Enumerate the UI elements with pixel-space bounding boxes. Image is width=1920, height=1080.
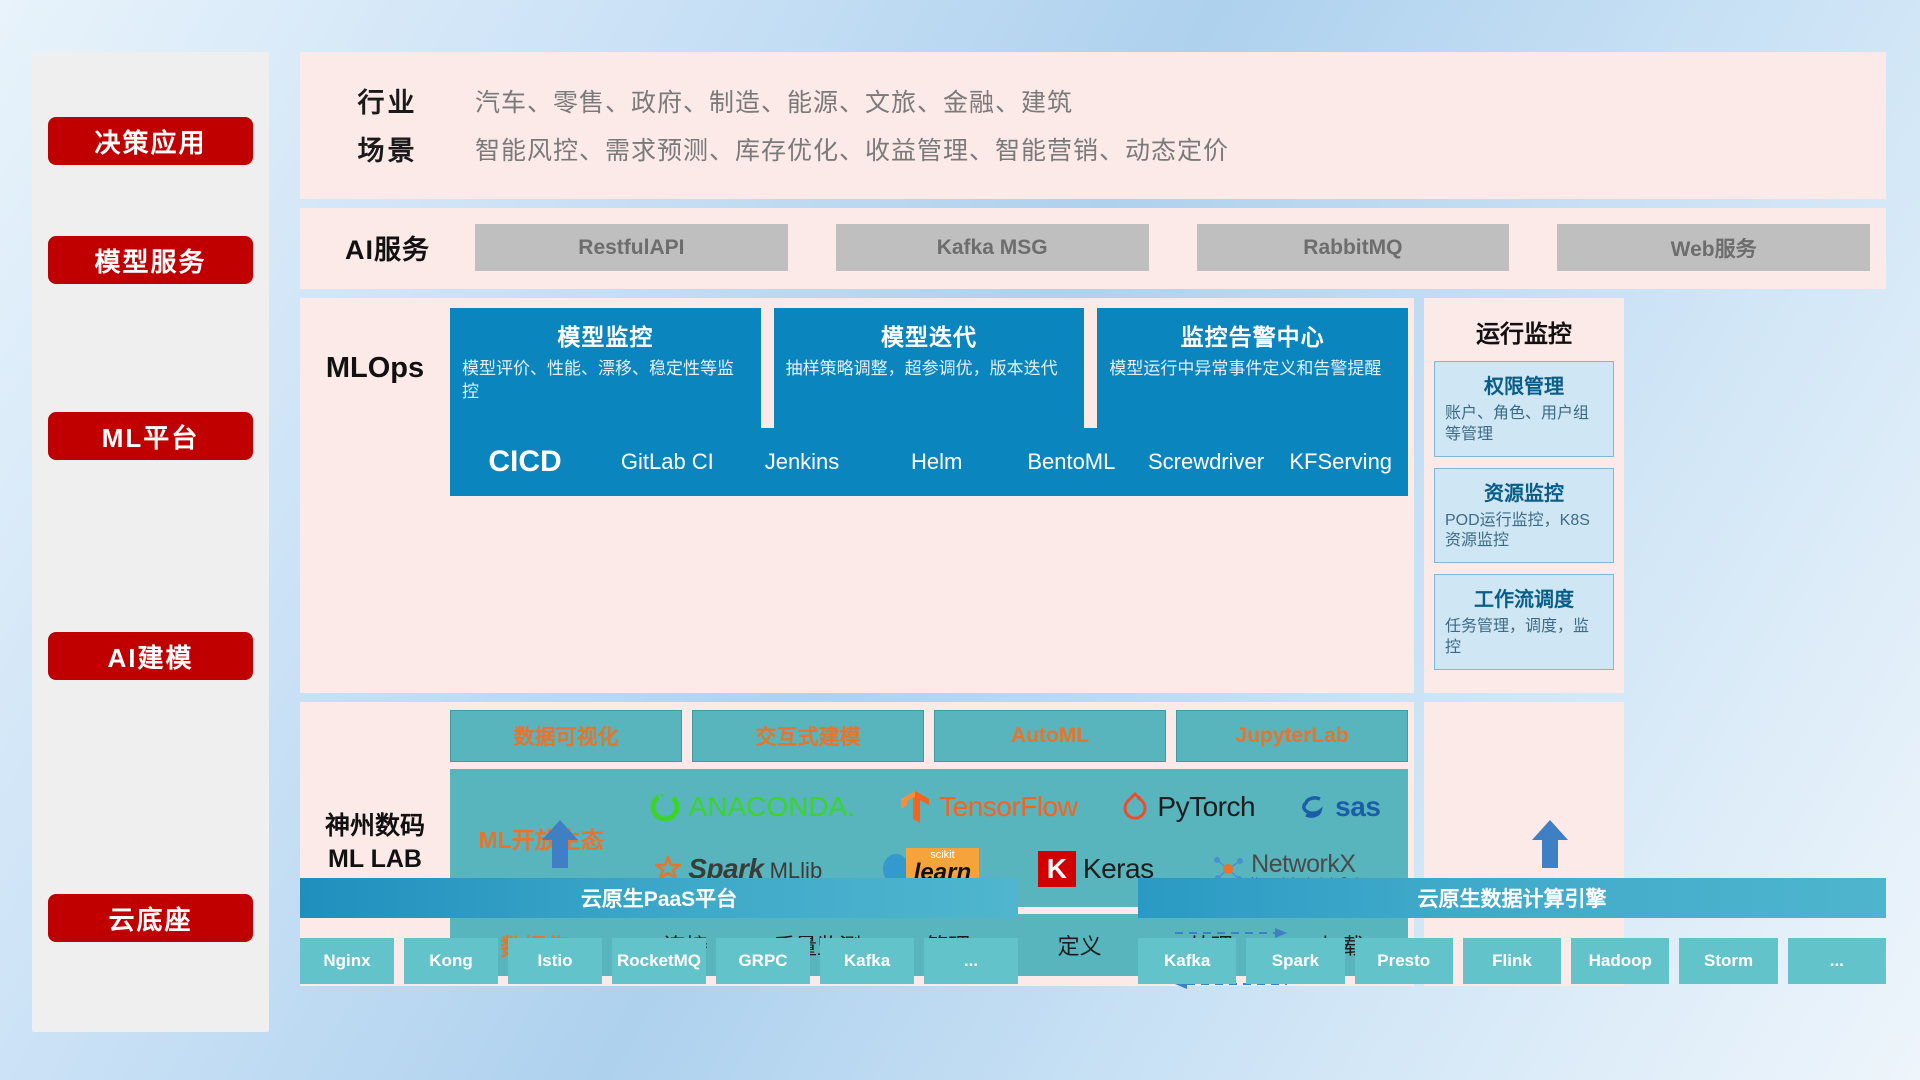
- sas-logo: sas: [1298, 791, 1380, 823]
- cloud-chip-more[interactable]: ...: [924, 938, 1018, 984]
- card-desc: 账户、角色、用户组等管理: [1445, 404, 1603, 446]
- cicd-item-screwdriver[interactable]: Screwdriver: [1139, 449, 1274, 474]
- ai-service-label: AI服务: [300, 228, 475, 267]
- sas-logo-text: sas: [1335, 791, 1380, 823]
- cloud-data-engine-column: 云原生数据计算引擎 Kafka Spark Presto Flink Hadoo…: [1138, 878, 1886, 1033]
- rail-item-label: 决策应用: [94, 123, 206, 160]
- cloud-chip-kafka-right[interactable]: Kafka: [1138, 938, 1236, 984]
- cicd-item-kfserving[interactable]: KFServing: [1273, 449, 1408, 474]
- service-chip-label: Web服务: [1671, 233, 1757, 263]
- rail-item-label: AI建模: [107, 638, 193, 675]
- cloud-chip-kong[interactable]: Kong: [404, 938, 498, 984]
- pytorch-logo: PyTorch: [1120, 790, 1255, 824]
- monitor-rail-title: 运行监控: [1434, 314, 1614, 349]
- modeling-label-line2: ML LAB: [325, 843, 425, 876]
- cloud-paas-chip-list: Nginx Kong Istio RocketMQ GRPC Kafka ...: [300, 938, 1018, 984]
- rail-item-label: ML平台: [102, 418, 200, 455]
- mlops-card-model-monitor[interactable]: 模型监控 模型评价、性能、漂移、稳定性等监控: [450, 308, 761, 428]
- tool-chip-automl[interactable]: AutoML: [934, 710, 1166, 762]
- rail-item-ai-modeling[interactable]: AI建模: [48, 632, 253, 680]
- cloud-chip-nginx[interactable]: Nginx: [300, 938, 394, 984]
- cloud-data-engine-chip-list: Kafka Spark Presto Flink Hadoop Storm ..…: [1138, 938, 1886, 984]
- cicd-item-jenkins[interactable]: Jenkins: [735, 449, 870, 474]
- card-desc: 抽样策略调整，超参调优，版本迭代: [786, 358, 1073, 381]
- cloud-chip-storm[interactable]: Storm: [1679, 938, 1777, 984]
- anaconda-mark-icon: [648, 790, 682, 824]
- cloud-chip-more-right[interactable]: ...: [1788, 938, 1886, 984]
- cloud-chip-hadoop[interactable]: Hadoop: [1571, 938, 1669, 984]
- card-title: 权限管理: [1445, 370, 1603, 399]
- modeling-tool-list: 数据可视化 交互式建模 AutoML JupyterLab: [450, 710, 1408, 762]
- tool-chip-data-visualization[interactable]: 数据可视化: [450, 710, 682, 762]
- tensorflow-mark-icon: [898, 789, 932, 825]
- rail-item-label: 模型服务: [94, 242, 206, 279]
- rail-item-label: 云底座: [108, 900, 192, 937]
- cicd-item-gitlab-ci[interactable]: GitLab CI: [600, 449, 735, 474]
- cicd-bar: CICD GitLab CI Jenkins Helm BentoML Scre…: [450, 428, 1408, 496]
- arrow-up-data-engine-icon: [1530, 820, 1570, 868]
- layer-rail: 决策应用 模型服务 ML平台 AI建模 云底座: [32, 52, 269, 1032]
- cloud-paas-column: 云原生PaaS平台 Nginx Kong Istio RocketMQ GRPC…: [300, 878, 1018, 1033]
- rail-item-decision-app[interactable]: 决策应用: [48, 117, 253, 165]
- anaconda-logo-text: ANACONDA.: [689, 791, 855, 823]
- cloud-chip-spark[interactable]: Spark: [1246, 938, 1344, 984]
- modeling-label-line1: 神州数码: [325, 810, 425, 843]
- industry-row: 行业 汽车、零售、政府、制造、能源、文旅、金融、建筑: [300, 81, 1886, 120]
- rail-item-cloud-base[interactable]: 云底座: [48, 894, 253, 942]
- scenario-label: 场景: [300, 129, 475, 168]
- cicd-item-helm[interactable]: Helm: [869, 449, 1004, 474]
- service-chip-web[interactable]: Web服务: [1557, 224, 1870, 271]
- cicd-title: CICD: [450, 445, 600, 479]
- sas-mark-icon: [1298, 792, 1328, 822]
- ai-service-band: AI服务 RestfulAPI Kafka MSG RabbitMQ Web服务: [300, 208, 1886, 289]
- card-desc: 任务管理，调度，监控: [1445, 617, 1603, 659]
- mlops-cards-row: MLOps 模型监控 模型评价、性能、漂移、稳定性等监控 模型迭代 抽样策略调整…: [300, 308, 1414, 428]
- industry-label: 行业: [300, 81, 475, 120]
- card-title: 资源监控: [1445, 477, 1603, 506]
- logo-line-1: ANACONDA. TensorFlow: [626, 777, 1402, 837]
- cloud-paas-title: 云原生PaaS平台: [300, 878, 1018, 918]
- cloud-chip-flink[interactable]: Flink: [1463, 938, 1561, 984]
- card-desc: 模型运行中异常事件定义和告警提醒: [1109, 358, 1396, 381]
- mlops-card-alert-center[interactable]: 监控告警中心 模型运行中异常事件定义和告警提醒: [1097, 308, 1408, 428]
- cloud-chip-istio[interactable]: Istio: [508, 938, 602, 984]
- pytorch-mark-icon: [1120, 790, 1150, 824]
- industry-value: 汽车、零售、政府、制造、能源、文旅、金融、建筑: [475, 83, 1073, 119]
- anaconda-logo: ANACONDA.: [648, 790, 855, 824]
- scenario-row: 场景 智能风控、需求预测、库存优化、收益管理、智能营销、动态定价: [300, 129, 1886, 168]
- scenario-value: 智能风控、需求预测、库存优化、收益管理、智能营销、动态定价: [475, 131, 1229, 167]
- cloud-chip-grpc[interactable]: GRPC: [716, 938, 810, 984]
- service-chip-kafka-msg[interactable]: Kafka MSG: [836, 224, 1149, 271]
- service-chip-label: RabbitMQ: [1303, 236, 1402, 260]
- pytorch-logo-text: PyTorch: [1157, 791, 1255, 823]
- tensorflow-logo-text: TensorFlow: [939, 791, 1077, 823]
- mlops-band: MLOps 模型监控 模型评价、性能、漂移、稳定性等监控 模型迭代 抽样策略调整…: [300, 298, 1886, 693]
- mlops-card-list: 模型监控 模型评价、性能、漂移、稳定性等监控 模型迭代 抽样策略调整，超参调优，…: [450, 308, 1414, 428]
- cicd-item-bentoml[interactable]: BentoML: [1004, 449, 1139, 474]
- mlops-main: MLOps 模型监控 模型评价、性能、漂移、稳定性等监控 模型迭代 抽样策略调整…: [300, 298, 1414, 693]
- service-chip-label: Kafka MSG: [937, 236, 1048, 260]
- cloud-chip-rocketmq[interactable]: RocketMQ: [612, 938, 706, 984]
- monitor-card-workflow[interactable]: 工作流调度 任务管理，调度，监控: [1434, 574, 1614, 670]
- tensorflow-logo: TensorFlow: [898, 789, 1077, 825]
- tool-chip-interactive-modeling[interactable]: 交互式建模: [692, 710, 924, 762]
- service-chip-restfulapi[interactable]: RestfulAPI: [475, 224, 788, 271]
- cloud-chip-presto[interactable]: Presto: [1355, 938, 1453, 984]
- mlops-card-model-iteration[interactable]: 模型迭代 抽样策略调整，超参调优，版本迭代: [774, 308, 1085, 428]
- ai-service-list: RestfulAPI Kafka MSG RabbitMQ Web服务: [475, 224, 1886, 271]
- card-title: 监控告警中心: [1109, 318, 1396, 352]
- cloud-data-engine-title: 云原生数据计算引擎: [1138, 878, 1886, 918]
- mlops-label: MLOps: [300, 308, 450, 428]
- cloud-base-band: 云原生PaaS平台 Nginx Kong Istio RocketMQ GRPC…: [300, 878, 1886, 1033]
- monitor-rail: 运行监控 权限管理 账户、角色、用户组等管理 资源监控 POD运行监控，K8S资…: [1424, 298, 1624, 693]
- monitor-card-resource[interactable]: 资源监控 POD运行监控，K8S资源监控: [1434, 468, 1614, 564]
- rail-item-model-service[interactable]: 模型服务: [48, 236, 253, 284]
- service-chip-rabbitmq[interactable]: RabbitMQ: [1197, 224, 1510, 271]
- cloud-connector-gap: [1018, 878, 1138, 1033]
- card-title: 模型监控: [462, 318, 749, 352]
- service-chip-label: RestfulAPI: [578, 236, 684, 260]
- tool-chip-jupyterlab[interactable]: JupyterLab: [1176, 710, 1408, 762]
- industry-band: 行业 汽车、零售、政府、制造、能源、文旅、金融、建筑 场景 智能风控、需求预测、…: [300, 52, 1886, 199]
- architecture-main-column: 行业 汽车、零售、政府、制造、能源、文旅、金融、建筑 场景 智能风控、需求预测、…: [300, 52, 1886, 986]
- card-desc: POD运行监控，K8S资源监控: [1445, 511, 1603, 553]
- card-desc: 模型评价、性能、漂移、稳定性等监控: [462, 358, 749, 404]
- card-title: 工作流调度: [1445, 583, 1603, 612]
- networkx-logo-text: NetworkX: [1251, 852, 1373, 877]
- rail-item-ml-platform[interactable]: ML平台: [48, 412, 253, 460]
- cloud-chip-kafka[interactable]: Kafka: [820, 938, 914, 984]
- arrow-up-paas-icon: [540, 820, 580, 868]
- monitor-card-permission[interactable]: 权限管理 账户、角色、用户组等管理: [1434, 361, 1614, 457]
- cicd-item-list: GitLab CI Jenkins Helm BentoML Screwdriv…: [600, 449, 1408, 474]
- card-title: 模型迭代: [786, 318, 1073, 352]
